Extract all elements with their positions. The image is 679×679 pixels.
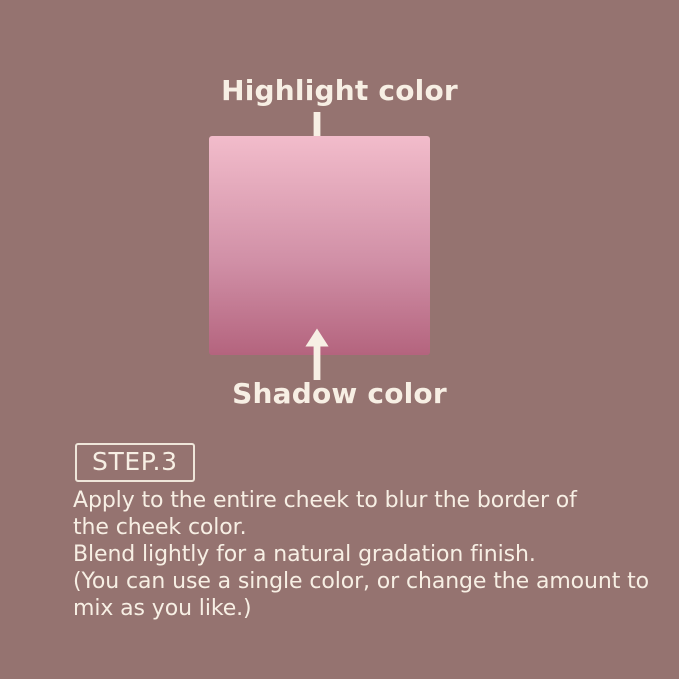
instruction-line: Blend lightly for a natural gradation fi… [73,541,633,568]
gradient-color-swatch [209,136,430,355]
instruction-line: Apply to the entire cheek to blur the bo… [73,487,633,514]
highlight-color-label: Highlight color [0,74,679,107]
instruction-line: (You can use a single color, or change t… [73,568,633,595]
instruction-line: mix as you like.) [73,595,633,622]
instruction-paragraph: Apply to the entire cheek to blur the bo… [73,487,633,622]
arrow-up-icon [303,328,331,380]
instruction-card: Highlight color Shadow color STEP.3 Appl… [0,0,679,679]
step-badge: STEP.3 [75,443,195,482]
shadow-color-label: Shadow color [0,377,679,410]
instruction-line: the cheek color. [73,514,633,541]
